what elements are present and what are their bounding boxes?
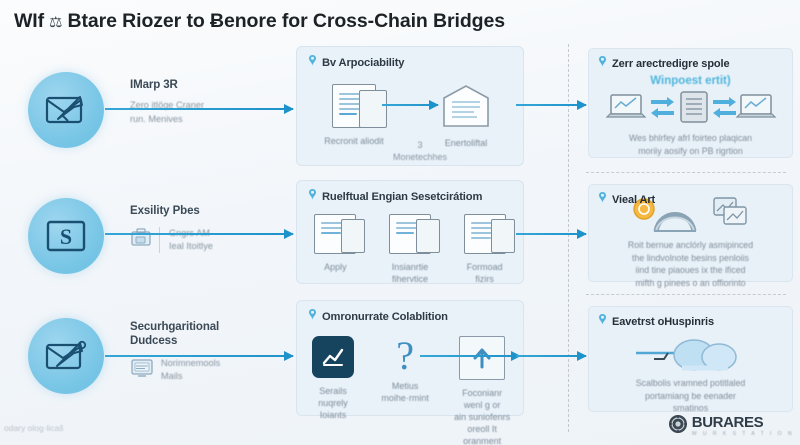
middle-card-formoad[interactable]: Formoad fizirs (454, 214, 515, 285)
left-node-1-sub-line-1: Zero itlöge Craner (130, 99, 290, 112)
middle-panel-1-note: 3 Monetechhes (375, 139, 465, 163)
info-icon (598, 55, 607, 73)
middle-card-insianrtie-label-line-2: fihervtice (392, 274, 428, 284)
middle-panel-1-note-line-1: 3 (417, 140, 422, 150)
middle-panel-collaboration[interactable]: Omronurrate Colablition Serails nuqrely … (296, 300, 524, 416)
question-mark-icon: ? (396, 336, 414, 376)
middle-card-metius-label-line-2: moihe·rmint (381, 393, 429, 403)
right-panel-1-body-line-2: moriiy aosify on PB rigrtion (638, 146, 743, 156)
left-node-3-heading-2: Dudcess (130, 334, 290, 348)
middle-panel-3-header: Omronurrate Colablition (297, 301, 523, 326)
document-lines-icon (464, 214, 506, 254)
middle-card-apply-label: Apply (324, 261, 347, 273)
info-icon (308, 54, 317, 72)
middle-card-insianrtie[interactable]: Insianrtie fihervtice (380, 214, 441, 285)
right-panel-1-header: Zerr arectredigre spole (589, 49, 792, 73)
chart-square-icon (312, 336, 354, 378)
middle-card-foconianr[interactable]: Foconianr wenl g or ain suniofenrs oreol… (447, 336, 517, 445)
right-panel-2-body-line-2: the lindvolnote besins penloiis (632, 253, 749, 263)
right-panel-2-body: Roit bernue anclórly asmipinced the lind… (589, 239, 792, 289)
footer-note: odary olog·licaš (4, 423, 64, 433)
left-node-2-text: Exsility Pbes Gngrs AM Ieal Itoitlye (130, 204, 290, 253)
middle-card-metius-label-line-1: Metius (392, 381, 419, 391)
cloud-icon (589, 333, 792, 373)
middle-panel-2-title: Ruelftual Engian Sesetcirátiom (322, 191, 482, 203)
right-panel-visual-art[interactable]: Vieal Art Roit bernue anclórly asmipince… (588, 184, 793, 282)
right-panel-2-body-line-3: iind tine piaoues ix the ificed (635, 265, 745, 275)
right-panel-1-subtitle: Winpoest ertit) (589, 75, 792, 87)
middle-card-apply[interactable]: Apply (305, 214, 366, 273)
watermark-text: BURARES W U R K S T A T I O N (692, 415, 794, 437)
left-node-1-heading: IMarp 3R (130, 78, 290, 92)
info-icon (308, 308, 317, 326)
left-node-2-sub-line-2: Ieal Itoitlye (169, 241, 213, 251)
middle-card-formoad-label-line-2: fizirs (475, 274, 494, 284)
info-icon (598, 191, 607, 209)
left-node-2-sub-row: Gngrs AM Ieal Itoitlye (130, 227, 290, 253)
scales-glyph-icon: ⚖ (49, 13, 62, 31)
middle-card-foconianr-label-line-2: wenl g or (464, 400, 501, 410)
monitor-icon (130, 357, 154, 384)
middle-panel-2-cards: Apply Insianrtie fihervtice (297, 214, 523, 285)
middle-card-serails-label-line-1: Serails (319, 386, 347, 396)
middle-panel-3-title: Omronurrate Colablition (322, 311, 448, 323)
right-panel-3-body-line-1: Scalbolis vramned potitlaled (636, 378, 746, 388)
watermark: BURARES W U R K S T A T I O N (668, 414, 794, 439)
middle-panel-availability[interactable]: Bv Arpociability Recronit aliodit (296, 46, 524, 166)
watermark-sub: W U R K S T A T I O N (692, 432, 794, 437)
info-icon (308, 188, 317, 206)
arrow-panel-3-internal (420, 355, 520, 357)
middle-card-formoad-label: Formoad fizirs (467, 261, 503, 285)
right-panel-zero-knowledge[interactable]: Zerr arectredigre spole Winpoest ertit) (588, 48, 793, 158)
middle-card-insianrtie-label-line-1: Insianrtie (392, 262, 429, 272)
middle-panel-execution[interactable]: Ruelftual Engian Sesetcirátiom Apply (296, 180, 524, 284)
left-node-3-sub-text: Norimnemools Mails (161, 357, 220, 383)
sub-row-divider (159, 227, 160, 253)
right-divider-2 (586, 294, 786, 295)
document-pair-icon (332, 84, 376, 128)
right-panel-cloud[interactable]: Eavetrst oHuspinris Scalbolis vramned po… (588, 306, 793, 412)
middle-panel-1-note-line-2: Monetechhes (393, 152, 447, 162)
right-divider-1 (586, 172, 786, 173)
arrow-left-1-to-panel-1 (105, 108, 293, 110)
right-panel-2-body-line-1: Roit bernue anclórly asmipinced (628, 240, 753, 250)
right-panel-3-title: Eavetrst oHuspinris (612, 316, 714, 328)
infographic-canvas: WIf ⚖ Btare Riozer to Ƀenore for Cross-C… (0, 0, 800, 445)
arrow-panel-3-to-right-3 (516, 355, 586, 357)
middle-panel-1-title: Bv Arpociability (322, 57, 404, 69)
right-panel-3-body: Scalbolis vramned potitlaled portamiang … (589, 377, 792, 415)
left-node-3-text: Securhgaritional Dudcess Norimnemools Ma… (130, 320, 290, 384)
briefcase-icon (130, 227, 152, 252)
envelope-plane-icon (28, 72, 104, 148)
right-panel-1-body-line-1: Wes bhlrfey afrl foirteo plaqican (629, 133, 752, 143)
info-icon (598, 313, 607, 331)
left-node-3-heading: Securhgaritional (130, 320, 290, 334)
middle-card-foconianr-label-line-4: oreoll It oranment (463, 424, 501, 445)
upload-document-icon (459, 336, 505, 380)
middle-card-foconianr-label: Foconianr wenl g or ain suniofenrs oreol… (447, 387, 517, 445)
middle-panel-2-header: Ruelftual Engian Sesetcirátiom (297, 181, 523, 206)
middle-card-serails-label-line-3: Ioiants (320, 410, 347, 420)
arrow-left-2-to-panel-2 (105, 233, 293, 235)
page-title: WIf ⚖ Btare Riozer to Ƀenore for Cross-C… (14, 4, 790, 38)
middle-panel-1-header: Bv Arpociability (297, 47, 523, 72)
right-panel-3-header: Eavetrst oHuspinris (589, 307, 792, 331)
s-badge-icon: S (28, 198, 104, 274)
middle-panel-3-cards: Serails nuqrely Ioiants ? Metius moihe·r… (297, 336, 523, 445)
middle-card-metius[interactable]: ? Metius moihe·rmint (375, 336, 435, 404)
middle-card-metius-label: Metius moihe·rmint (381, 380, 429, 404)
right-panel-3-body-line-3: smatinos (673, 403, 708, 413)
middle-card-foconianr-label-line-3: ain suniofenrs (454, 412, 510, 422)
right-panel-1-body: Wes bhlrfey afrl foirteo plaqican moriiy… (589, 132, 792, 157)
arrow-panel-1-to-right-1 (516, 104, 586, 106)
middle-card-insianrtie-label: Insianrtie fihervtice (392, 261, 429, 285)
left-node-2-heading: Exsility Pbes (130, 204, 290, 218)
middle-card-formoad-label-line-1: Formoad (467, 262, 503, 272)
envelope-document-icon (440, 84, 492, 130)
middle-card-serails-label-line-2: nuqrely (318, 398, 348, 408)
watermark-emblem-icon (668, 414, 688, 439)
column-divider (568, 44, 569, 432)
document-cloud-icon (389, 214, 431, 254)
middle-card-serails-label: Serails nuqrely Ioiants (318, 385, 348, 421)
envelope-plane-icon (28, 318, 104, 394)
document-cloud-icon (314, 214, 356, 254)
watermark-main: BURARES (692, 415, 794, 430)
arrow-panel-1-internal (382, 104, 438, 106)
left-node-3-sub-line-1: Norimnemools (161, 358, 220, 368)
laptop-server-laptop-icon (589, 89, 792, 127)
right-panel-2-body-line-4: mifth g pinees o an offiorinto (635, 278, 745, 288)
left-node-3-sub-row: Norimnemools Mails (130, 357, 290, 384)
page-title-prefix: WIf (14, 10, 44, 33)
left-node-3-sub-line-2: Mails (161, 371, 182, 381)
arrow-panel-2-to-right-2 (516, 233, 586, 235)
middle-card-serails[interactable]: Serails nuqrely Ioiants (303, 336, 363, 421)
right-panel-1-title: Zerr arectredigre spole (612, 58, 730, 70)
svg-text:S: S (60, 224, 72, 249)
page-title-rest: Btare Riozer to Ƀenore for Cross-Chain B… (67, 10, 504, 33)
left-node-2-sub-text: Gngrs AM Ieal Itoitlye (169, 227, 213, 253)
left-node-1-sub-line-2: run. Menives (130, 113, 290, 126)
right-panel-3-body-line-2: portamiang be eenader (645, 391, 736, 401)
middle-card-recronit[interactable]: Recronit aliodit (312, 84, 396, 147)
right-panel-2-title: Vieal Art (612, 194, 655, 206)
left-node-1-text: IMarp 3R Zero itlöge Craner run. Menives (130, 78, 290, 126)
arrow-left-3-to-panel-3 (105, 355, 293, 357)
middle-card-foconianr-label-line-1: Foconianr (462, 388, 502, 398)
